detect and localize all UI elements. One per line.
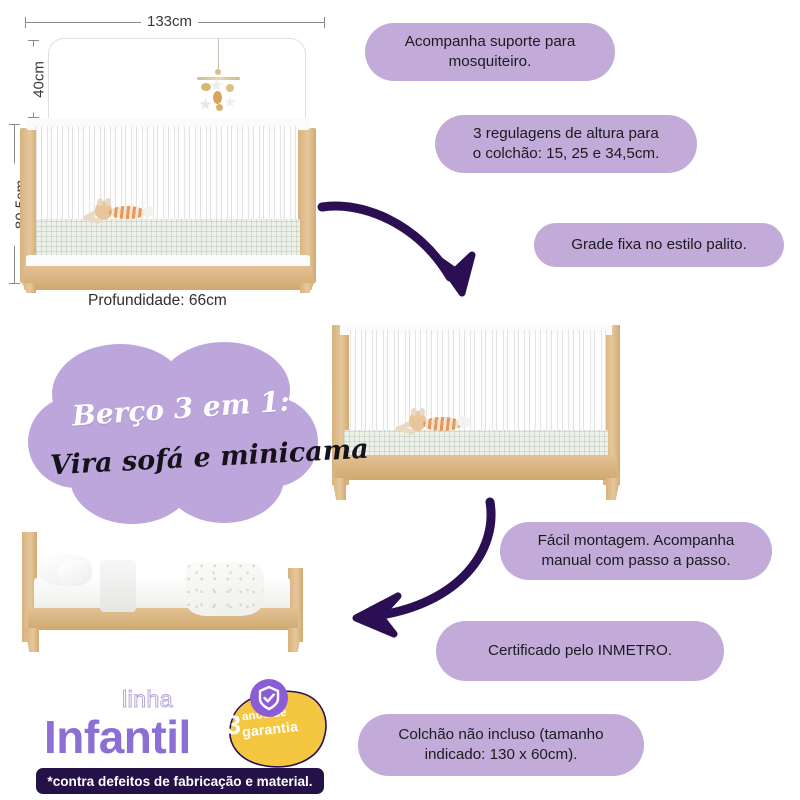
crib-slat [546, 330, 552, 438]
minibed-foot-right [288, 628, 302, 652]
minibed-foot-left [25, 628, 39, 652]
callout-inmetro-line-1: Certificado pelo INMETRO. [488, 641, 672, 661]
width-dimension-label: 133cm [141, 13, 198, 30]
net-height-label: 40cm [31, 47, 48, 113]
infographic-page: 133cm 40cm 80,5cm [0, 0, 800, 800]
crib-height-cap-top [9, 124, 20, 125]
width-dimension-cap-left [25, 17, 26, 28]
plush-ear-crib-1 [97, 198, 103, 206]
mobile-crossbar [197, 77, 240, 80]
net-height-cap-top [28, 40, 39, 41]
mobile-bead-1 [201, 83, 211, 91]
crib-height-cap-bottom [9, 283, 20, 284]
crib-slat [492, 330, 498, 438]
callout-mosquito-support-line-2: mosquiteiro. [405, 52, 576, 72]
callout-mattress-not-included-line-1: Colchão não incluso (tamanho [398, 725, 603, 745]
crib-mattress [36, 219, 300, 257]
crib-slat [503, 330, 509, 438]
callout-mattress-heights-line-2: o colchão: 15, 25 e 34,5cm. [473, 144, 660, 164]
flow-arrow-down-right [320, 185, 510, 310]
plush-ear-sofa-1 [411, 408, 417, 416]
crib-slat [383, 330, 389, 438]
crib-slat [579, 330, 585, 438]
mobile-bead-4 [216, 104, 223, 111]
minibed-folded-blanket [100, 560, 136, 612]
crib-slat [601, 330, 607, 438]
crib-base-panel [24, 266, 312, 290]
guarantee-years-number: 3 [226, 712, 241, 739]
shield-check-icon [249, 678, 289, 718]
sofa-base-panel [335, 455, 617, 480]
plush-tail-crib [143, 206, 154, 217]
crib-slat [535, 330, 541, 438]
mobile-bead-3 [213, 91, 222, 104]
crib-slat [568, 330, 574, 438]
flow-arrow-down-left [330, 498, 515, 638]
callout-mattress-not-included[interactable]: Colchão não incluso (tamanho indicado: 1… [358, 714, 644, 776]
footnote-banner: *contra defeitos de fabricação e materia… [36, 768, 324, 794]
callout-easy-assembly-line-2: manual com passo a passo. [538, 551, 735, 571]
callout-mattress-heights-line-1: 3 regulagens de altura para [473, 124, 660, 144]
plush-body-sofa [423, 417, 461, 431]
crib-slat [481, 330, 487, 438]
depth-label: Profundidade: 66cm [88, 292, 227, 310]
crib-slat [590, 330, 596, 438]
callout-fixed-rail[interactable]: Grade fixa no estilo palito. [534, 223, 784, 267]
crib-slat [557, 330, 563, 438]
plush-ear-crib-2 [105, 198, 111, 206]
cloud-shape [28, 338, 318, 530]
minibed-base-panel [28, 608, 298, 630]
sofa-foot-left [332, 478, 346, 500]
crib-slat [361, 330, 367, 438]
callout-easy-assembly-line-1: Fácil montagem. Acompanha [538, 531, 735, 551]
minibed-throw-blanket [186, 562, 264, 616]
crib-slat [372, 330, 378, 438]
callout-mosquito-support[interactable]: Acompanha suporte para mosquiteiro. [365, 23, 615, 81]
mobile-bead-top [215, 69, 221, 75]
cloud-banner: Berço 3 em 1: Vira sofá e minicama [28, 338, 318, 530]
callout-fixed-rail-line-1: Grade fixa no estilo palito. [571, 235, 747, 255]
logo-infantil-text: Infantil [44, 710, 191, 764]
mosquito-net-support-frame [48, 38, 306, 121]
crib-slat [514, 330, 520, 438]
crib-slat [524, 330, 530, 438]
logo-linha-text: linha [122, 686, 173, 713]
sofa-foot-right [606, 478, 620, 500]
plush-ear-sofa-2 [419, 408, 425, 416]
plush-tail-sofa [458, 416, 470, 428]
width-dimension-cap-right [324, 17, 325, 28]
plush-body-crib [109, 206, 145, 219]
mobile-bead-2 [226, 84, 234, 92]
crib-slat [470, 330, 476, 438]
crib-slat [350, 330, 356, 438]
callout-easy-assembly[interactable]: Fácil montagem. Acompanha manual com pas… [500, 522, 772, 580]
crib-slat [394, 330, 400, 438]
callout-mosquito-support-line-1: Acompanha suporte para [405, 32, 576, 52]
callout-mattress-not-included-line-2: indicado: 130 x 60cm). [398, 745, 603, 765]
callout-mattress-heights[interactable]: 3 regulagens de altura para o colchão: 1… [435, 115, 697, 173]
mobile-cord [218, 38, 219, 72]
